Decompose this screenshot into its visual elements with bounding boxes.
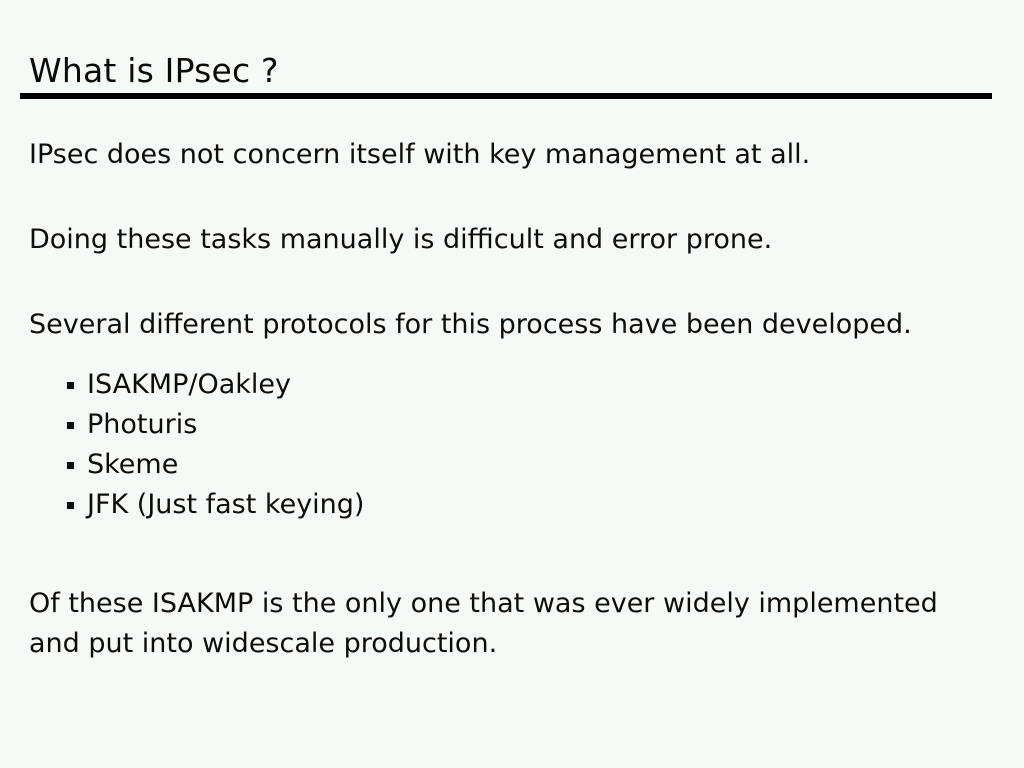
body-paragraph-3: Several different protocols for this pro… [29, 305, 994, 345]
body-paragraph-1: IPsec does not concern itself with key m… [29, 135, 994, 175]
slide: What is IPsec ? IPsec does not concern i… [0, 0, 1024, 768]
square-bullet-icon [67, 462, 74, 469]
slide-body: IPsec does not concern itself with key m… [29, 135, 994, 691]
square-bullet-icon [67, 382, 74, 389]
list-item-label: ISAKMP/Oakley [87, 369, 291, 400]
list-item-label: Photuris [87, 409, 197, 440]
list-item: Photuris [29, 405, 994, 445]
closing-paragraph: Of these ISAKMP is the only one that was… [29, 584, 989, 664]
body-paragraph-2: Doing these tasks manually is difficult … [29, 220, 994, 260]
protocol-list: ISAKMP/Oakley Photuris Skeme JFK (Just f… [29, 365, 994, 525]
title-divider [20, 93, 992, 99]
square-bullet-icon [67, 422, 74, 429]
list-item-label: Skeme [87, 449, 178, 480]
bullets-top-spacer [29, 345, 994, 365]
list-item-label: JFK (Just fast keying) [87, 489, 364, 520]
bullets-bottom-spacer [29, 525, 994, 557]
square-bullet-icon [67, 502, 74, 509]
list-item: JFK (Just fast keying) [29, 485, 994, 525]
page-title: What is IPsec ? [29, 50, 279, 92]
list-item: Skeme [29, 445, 994, 485]
list-item: ISAKMP/Oakley [29, 365, 994, 405]
